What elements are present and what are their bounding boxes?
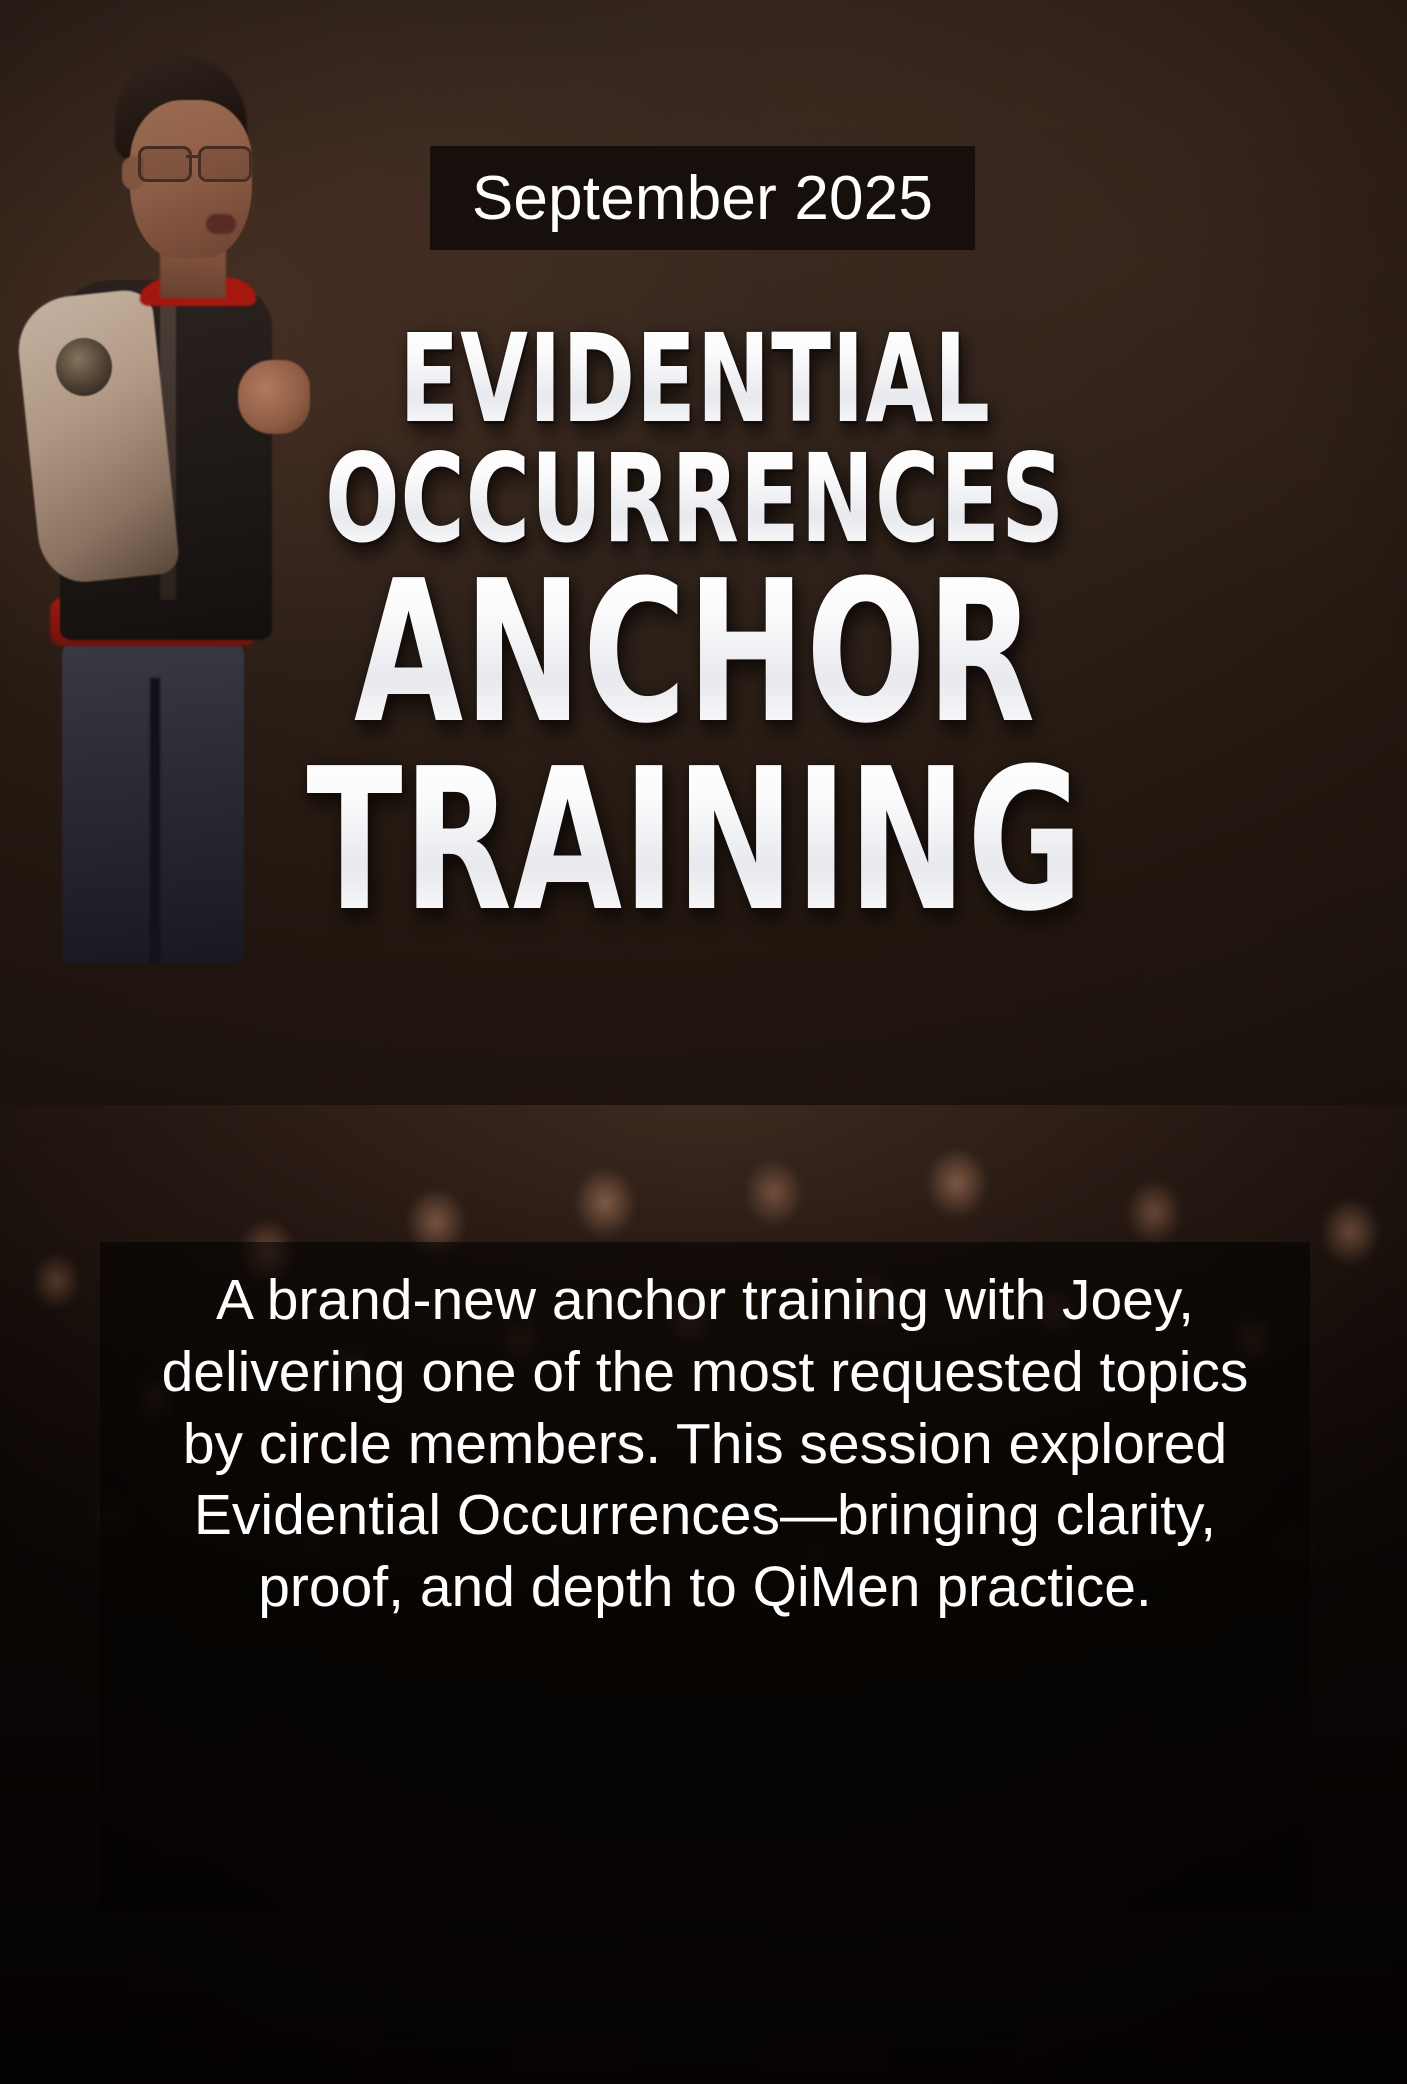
poster-content: September 2025 EVIDENTIAL OCCURRENCES AN…	[0, 0, 1407, 2084]
page-title: EVIDENTIAL OCCURRENCES ANCHOR TRAINING	[150, 320, 1240, 935]
description-text: A brand-new anchor training with Joey, d…	[100, 1265, 1310, 1624]
date-badge: September 2025	[430, 146, 975, 250]
headline-line-4: TRAINING	[259, 747, 1131, 935]
poster: September 2025 EVIDENTIAL OCCURRENCES AN…	[0, 0, 1407, 2084]
headline-line-1: EVIDENTIAL	[259, 320, 1131, 440]
headline-line-3: ANCHOR	[259, 559, 1131, 747]
description-paragraph: A brand-new anchor training with Joey, d…	[124, 1265, 1286, 1624]
